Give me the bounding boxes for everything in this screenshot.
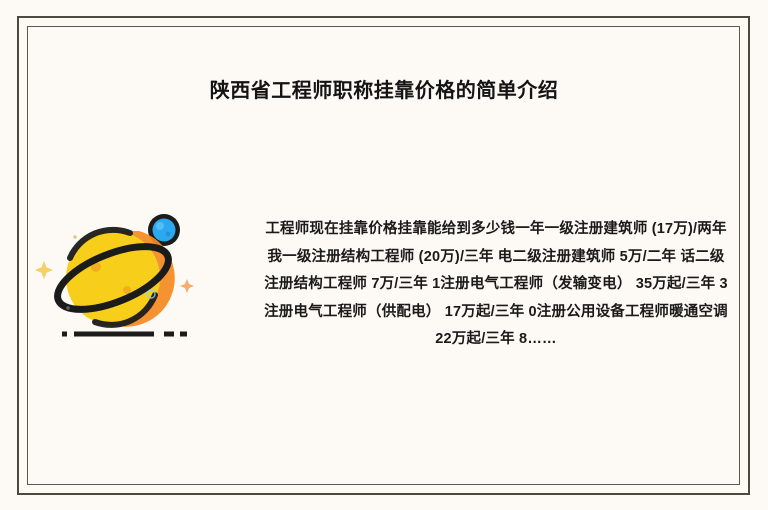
article-body: 工程师现在挂靠价格挂靠能给到多少钱一年一级注册建筑师 (17万)/两年 我一级注… [263,216,729,354]
poster-page: 陕西省工程师职称挂靠价格的简单介绍 [0,0,768,510]
page-title: 陕西省工程师职称挂靠价格的简单介绍 [0,78,768,104]
planet-crater-2 [123,286,131,294]
planet-illustration [34,198,230,344]
moon-icon [153,219,176,242]
